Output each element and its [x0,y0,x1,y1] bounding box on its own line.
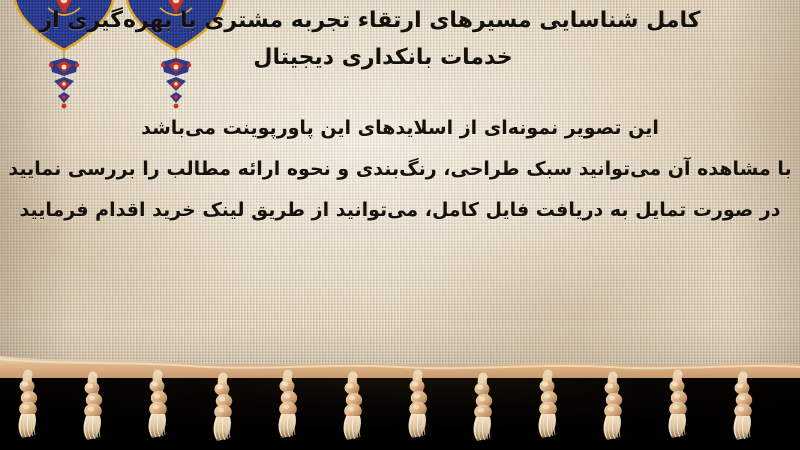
slide-text-layer: کامل شناسایی مسیرهای ارتقاء تجربه مشتری … [0,0,800,372]
knotted-tassel-fringe [0,352,800,450]
title-line-1: کامل شناسایی مسیرهای ارتقاء تجربه مشتری … [8,2,732,39]
slide-body: این تصویر نمونه‌ای از اسلایدهای این پاور… [0,108,800,231]
title-line-2: خدمات بانکداری دیجیتال [8,39,758,76]
slide-canvas: کامل شناسایی مسیرهای ارتقاء تجربه مشتری … [0,0,800,450]
tassel-row [18,374,752,441]
body-line-3: در صورت تمایل به دریافت فایل کامل، می‌تو… [0,190,800,231]
body-line-1: این تصویر نمونه‌ای از اسلایدهای این پاور… [0,108,800,149]
body-line-2: با مشاهده آن می‌توانید سبک طراحی، رنگ‌بن… [0,149,800,190]
slide-title: کامل شناسایی مسیرهای ارتقاء تجربه مشتری … [8,2,788,76]
